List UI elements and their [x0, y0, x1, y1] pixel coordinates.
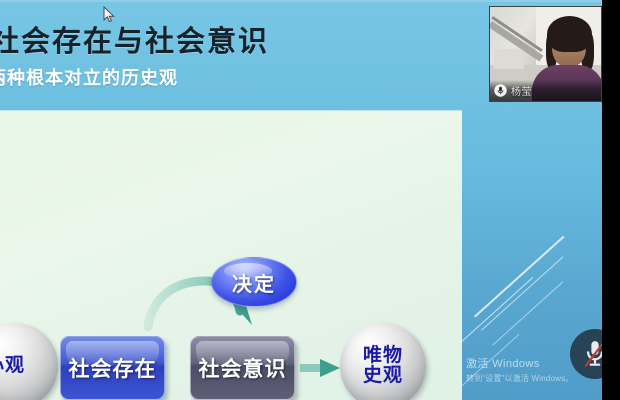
slide-subtitle: 两种根本对立的历史观: [0, 64, 178, 90]
node-materialist-line2: 史观: [363, 365, 403, 386]
node-materialist-line1: 唯物: [363, 345, 403, 366]
node-social-consciousness-label: 社会意识: [199, 353, 287, 383]
label-determines-top-text: 决定: [232, 268, 276, 297]
node-materialist-view-label: 唯物 史观: [363, 346, 403, 386]
label-determines-top[interactable]: 决定: [211, 257, 297, 307]
decorative-streak: [474, 236, 564, 317]
slide-title: 社会存在与社会意识: [0, 18, 269, 60]
participant-video-tile[interactable]: 杨莹: [489, 6, 602, 102]
node-social-existence-label: 社会存在: [69, 353, 157, 383]
node-materialist-view-sphere[interactable]: 唯物 史观: [340, 323, 426, 400]
decorative-streak: [481, 256, 564, 330]
slide-header: 社会存在与社会意识 两种根本对立的历史观: [0, 4, 470, 108]
participant-nameplate: 杨莹: [490, 80, 601, 101]
arrowhead-right-sphere: [320, 359, 340, 377]
participant-name: 杨莹: [511, 83, 532, 98]
windows-activation-subtitle: 转到“设置”以激活 Windows。: [466, 373, 596, 384]
node-social-existence-box[interactable]: 社会存在: [60, 336, 165, 400]
video-room-panel: [494, 49, 524, 69]
right-letterbox-bar: [602, 0, 620, 400]
node-idealist-view-label: 心观: [0, 356, 25, 376]
microphone-icon: [494, 83, 507, 98]
slide-diagram-canvas: 心观 社会存在 社会意识 唯物 史观 决定 决定: [0, 110, 462, 400]
mouse-pointer-icon: [103, 6, 115, 24]
node-social-consciousness-box[interactable]: 社会意识: [190, 336, 295, 400]
person-hair-top: [547, 16, 592, 52]
decorative-streak: [452, 334, 520, 395]
stage-top-edge: [0, 0, 602, 2]
screen-share-view: 社会存在与社会意识 两种根本对立的历史观: [0, 0, 620, 400]
